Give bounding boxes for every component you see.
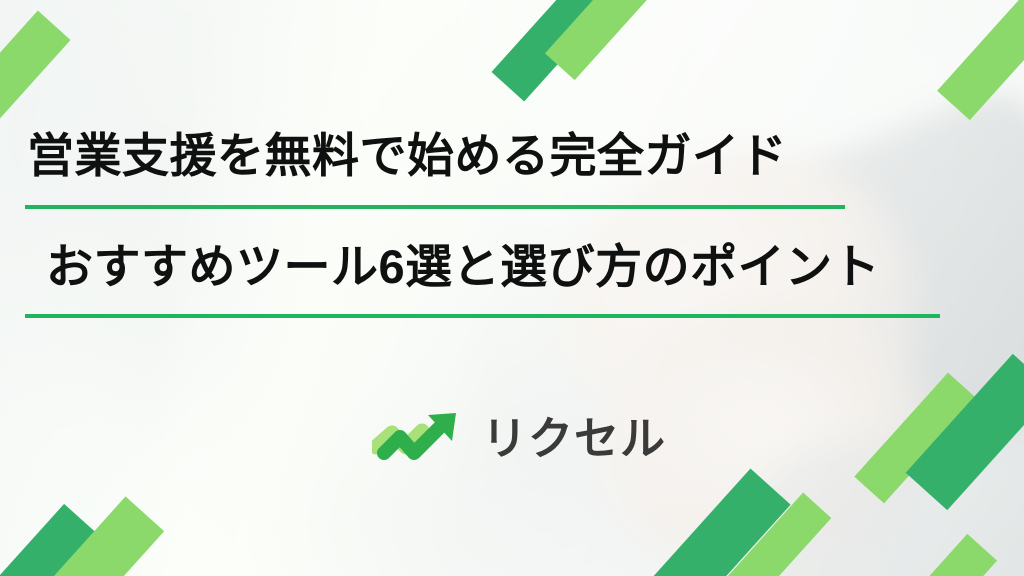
title-line-2: おすすめツール6選と選び方のポイント xyxy=(46,243,880,290)
brand-name: リクセル xyxy=(482,416,666,461)
title-line-1: 営業支援を無料で始める完全ガイド xyxy=(27,132,787,179)
brand-logo: リクセル xyxy=(372,402,662,474)
title-rule-top xyxy=(25,205,845,209)
title-rule-bottom xyxy=(25,314,940,318)
banner-canvas: 営業支援を無料で始める完全ガイド おすすめツール6選と選び方のポイント リクセル xyxy=(0,0,1024,576)
growth-arrow-chart-icon xyxy=(372,407,468,469)
